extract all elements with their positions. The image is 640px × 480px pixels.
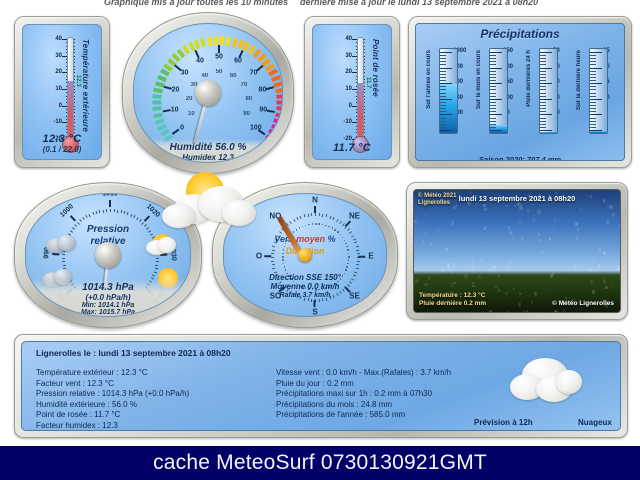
precipitation-minor-tick xyxy=(440,96,446,97)
raindrop xyxy=(532,219,535,222)
compass-minor-tick xyxy=(290,221,293,224)
humidity-tick xyxy=(218,45,220,53)
raindrop xyxy=(534,292,537,296)
precipitation-minor-tick xyxy=(490,121,496,122)
raindrop xyxy=(517,230,518,232)
humidity-tick-label: 40 xyxy=(196,58,204,65)
summary-line: Point de rosée : 11.7 °C xyxy=(36,410,189,421)
pressure-minor-tick xyxy=(110,209,111,212)
raindrop xyxy=(583,251,586,255)
raindrop xyxy=(598,264,600,267)
precipitation-minor-tick xyxy=(540,55,546,56)
precipitation-face: Précipitations Sur l'année en cours10008… xyxy=(415,23,625,161)
wind-hub xyxy=(298,248,312,262)
summary-line: Pluie du jour : 0.2 mm xyxy=(276,379,451,390)
precipitation-minor-tick xyxy=(540,105,546,106)
precipitation-minor-tick xyxy=(590,64,596,65)
raindrop xyxy=(554,218,556,221)
precipitation-minor-tick xyxy=(540,64,546,65)
pressure-minor-tick xyxy=(127,212,129,215)
raindrop xyxy=(509,260,511,263)
raindrop xyxy=(484,208,487,211)
precipitation-minor-tick xyxy=(540,86,546,87)
raindrop xyxy=(450,282,453,287)
forecast-cloud-icon xyxy=(510,354,584,408)
pressure-tick xyxy=(70,215,76,221)
humidity-tick-label: 60 xyxy=(234,58,242,65)
compass-dashed-ring-dot xyxy=(347,263,349,265)
raindrop xyxy=(577,228,579,230)
compass-cardinal-N: N xyxy=(312,196,318,205)
raindrop xyxy=(424,232,425,234)
raindrop xyxy=(550,274,553,278)
raindrop xyxy=(519,293,520,295)
raindrop xyxy=(423,240,425,243)
compass-dashed-ring-dot xyxy=(328,226,330,228)
summary-line: Température extérieur : 12.3 °C xyxy=(36,368,189,379)
precipitation-tick xyxy=(490,52,502,53)
raindrop xyxy=(480,242,481,243)
precipitation-minor-tick xyxy=(540,118,546,119)
precipitation-tick xyxy=(590,68,602,69)
temperature-gauge-title: Température extérieure xyxy=(81,39,90,132)
forecast-word: Nuageux xyxy=(578,418,612,427)
wind-title-row: Vent moyen % xyxy=(224,234,386,244)
precipitation-tick xyxy=(540,130,552,131)
raindrop xyxy=(541,251,544,254)
wind-direction-value: Direction SSE 150° xyxy=(224,273,386,282)
humidity-tick-label: 30 xyxy=(181,70,189,77)
pressure-minor-tick xyxy=(117,209,118,212)
precipitation-minor-tick xyxy=(590,105,596,106)
compass-minor-tick xyxy=(315,213,316,216)
precipitation-minor-tick xyxy=(490,96,496,97)
compass-dashed-ring-dot xyxy=(318,223,320,225)
compass-dashed-ring-dot xyxy=(322,224,324,226)
raindrop xyxy=(476,203,477,205)
summary-line: Précipitations de l'année : 585.0 mm xyxy=(276,410,451,421)
precipitation-minor-tick xyxy=(440,105,446,106)
precipitation-tick xyxy=(490,114,502,115)
humidex-tick-label: 60 xyxy=(230,73,237,79)
scale-tick-label: 0 xyxy=(59,103,62,109)
raindrop xyxy=(565,279,566,281)
precipitation-bar xyxy=(489,48,508,134)
compass-dashed-ring-dot xyxy=(312,223,314,225)
scale-tick-label: -10 xyxy=(343,119,352,125)
weather-dashboard: Graphique mis à jour toutes les 10 minut… xyxy=(0,0,640,480)
scale-tick-label: 40 xyxy=(345,36,352,42)
compass-minor-tick xyxy=(296,217,298,220)
wind-average-value: Moyenne 0.0 km/h xyxy=(224,282,386,291)
raindrop xyxy=(498,289,501,292)
precipitation-bar xyxy=(539,48,558,134)
humidex-tick-label: 50 xyxy=(216,69,223,75)
raindrop xyxy=(414,220,416,223)
temperature-gauge-panel[interactable]: 403020100-10-20 Température extérieure 1… xyxy=(14,16,110,168)
caption-last-update: dernière mise à jour le lundi 13 septemb… xyxy=(300,0,538,8)
raindrop xyxy=(490,266,493,271)
summary-heading: Lignerolles le : lundi 13 septembre 2021… xyxy=(36,348,231,358)
pressure-minor-tick xyxy=(62,261,65,262)
precipitation-minor-tick xyxy=(590,127,596,128)
compass-minor-tick xyxy=(356,264,359,266)
dewpoint-tube xyxy=(357,37,364,141)
wind-title-moyen: moyen xyxy=(296,234,325,244)
pressure-trend: (+0.0 hPa/h) xyxy=(26,293,190,302)
raindrop xyxy=(430,243,432,245)
raindrop xyxy=(527,209,530,213)
pressure-tick xyxy=(109,200,111,207)
weather-symbol-rain-icon xyxy=(44,230,78,256)
compass-dashed-ring-dot xyxy=(284,266,286,268)
precipitation-minor-tick xyxy=(440,80,446,81)
precipitation-tick xyxy=(540,114,552,115)
precipitation-minor-tick xyxy=(590,96,596,97)
humidity-tick-label: 70 xyxy=(250,70,258,77)
dewpoint-needle-label: 11.7 xyxy=(365,77,371,88)
precipitation-tick xyxy=(590,52,602,53)
wind-title-pct: % xyxy=(328,234,336,244)
pressure-minor-tick xyxy=(80,219,83,222)
scale-tick-label: 20 xyxy=(345,69,352,75)
raindrop xyxy=(605,286,608,289)
raindrop xyxy=(554,310,558,313)
raindrop xyxy=(420,237,421,238)
precipitation-column-label: Pluie dernières 24 h xyxy=(526,50,532,107)
raindrop xyxy=(539,239,541,242)
precipitation-minor-tick xyxy=(540,124,546,125)
pressure-minor-tick xyxy=(156,261,159,262)
precipitation-title: Précipitations xyxy=(416,27,624,41)
compass-dashed-ring-dot xyxy=(282,259,284,261)
humidity-gauge-face: 0102030405060708090100102030405060708090… xyxy=(133,23,283,163)
precipitation-column: Sur la dernière heure25201510500.2 mm xyxy=(570,46,620,142)
raindrop xyxy=(445,248,448,251)
compass-minor-tick xyxy=(329,215,331,218)
precipitation-minor-tick xyxy=(440,77,446,78)
precipitation-minor-tick xyxy=(440,74,446,75)
temperature-tube xyxy=(67,37,74,141)
humidex-tick-label: 70 xyxy=(241,82,248,88)
raindrop xyxy=(579,208,582,212)
compass-dashed-ring-dot xyxy=(345,269,347,271)
precipitation-minor-tick xyxy=(590,58,596,59)
raindrop xyxy=(514,205,515,207)
temperature-gauge-face: 403020100-10-20 Température extérieure 1… xyxy=(22,24,102,160)
pressure-minor-tick xyxy=(96,211,98,214)
precipitation-tick xyxy=(590,114,602,115)
precipitation-minor-tick xyxy=(490,74,496,75)
precipitation-tick xyxy=(440,52,452,53)
compass-dashed-ring-dot xyxy=(308,224,310,226)
humidity-tick xyxy=(163,87,171,91)
precipitation-minor-tick xyxy=(490,61,496,62)
compass-cardinal-NE: NE xyxy=(349,212,360,221)
summary-face: Lignerolles le : lundi 13 septembre 2021… xyxy=(21,341,621,431)
humidity-readout: Humidité 56.0 % Humidex 12.3 xyxy=(134,139,282,162)
humidity-tick-label: 90 xyxy=(259,106,267,113)
raindrop xyxy=(427,283,428,284)
raindrop xyxy=(506,265,509,269)
precipitation-minor-tick xyxy=(590,108,596,109)
pressure-gauge-panel[interactable]: 98099010001010102010301040 Pression rela… xyxy=(14,182,202,328)
raindrop xyxy=(523,310,525,312)
precipitation-tick xyxy=(490,130,502,131)
precipitation-minor-tick xyxy=(440,61,446,62)
pressure-minor-tick xyxy=(133,215,135,218)
compass-minor-tick xyxy=(347,229,350,232)
raindrop xyxy=(454,282,457,285)
humidity-value: Humidité 56.0 % xyxy=(134,142,282,153)
pressure-minor-tick xyxy=(62,258,65,259)
raindrop xyxy=(518,302,521,308)
compass-minor-tick xyxy=(272,268,275,270)
webcam-temperature: Température : 12.3 °C xyxy=(419,292,486,300)
forecast-label: Prévision à 12h xyxy=(474,418,533,427)
compass-minor-tick xyxy=(307,214,309,217)
compass-dashed-ring-dot xyxy=(348,256,350,258)
precipitation-minor-tick xyxy=(490,58,496,59)
summary-line: Précipitations maxi sur 1h : 0.2 mm à 07… xyxy=(276,389,451,400)
raindrop xyxy=(603,279,606,284)
raindrop xyxy=(472,285,475,288)
raindrop xyxy=(529,294,531,297)
raindrop xyxy=(574,234,576,236)
humidity-tick-label: 20 xyxy=(172,87,180,94)
scale-tick-label: 20 xyxy=(55,69,62,75)
compass-minor-tick xyxy=(339,221,342,224)
precipitation-minor-tick xyxy=(540,102,546,103)
humidity-tick-label: 10 xyxy=(171,106,179,113)
raindrop xyxy=(508,226,511,230)
humidity-tick xyxy=(239,50,244,58)
pressure-minor-tick xyxy=(99,210,101,213)
precipitation-columns: Sur l'année en cours10008006004002000580… xyxy=(420,46,620,142)
precipitation-minor-tick xyxy=(440,108,446,109)
precipitation-column-label: Sur l'année en cours xyxy=(426,50,432,109)
raindrop xyxy=(531,301,534,304)
dewpoint-gauge-face: 403020100-10-20 Point de rosée 11.7 11.7… xyxy=(312,24,392,160)
raindrop xyxy=(520,203,522,207)
raindrop xyxy=(519,221,521,224)
precipitation-bar-scale xyxy=(590,49,607,133)
raindrop xyxy=(451,220,454,226)
compass-minor-tick xyxy=(333,217,335,220)
precipitation-panel[interactable]: Précipitations Sur l'année en cours10008… xyxy=(408,16,632,168)
precipitation-bar-scale xyxy=(490,49,507,133)
raindrop xyxy=(415,279,417,282)
compass-tick xyxy=(314,206,316,213)
compass-minor-tick xyxy=(303,214,305,217)
pressure-minor-tick xyxy=(130,214,132,217)
precipitation-minor-tick xyxy=(540,96,546,97)
precipitation-tick xyxy=(440,114,452,115)
pressure-minor-tick xyxy=(86,215,88,218)
humidity-tick xyxy=(172,129,179,135)
precipitation-tick xyxy=(440,130,452,131)
precipitation-minor-tick xyxy=(440,93,446,94)
raindrop xyxy=(424,283,426,286)
raindrop xyxy=(589,268,591,271)
scale-tick-label: 10 xyxy=(55,86,62,92)
pressure-minor-tick xyxy=(83,217,86,220)
precipitation-minor-tick xyxy=(440,124,446,125)
precipitation-minor-tick xyxy=(490,77,496,78)
raindrop xyxy=(481,247,482,249)
compass-dashed-ring-dot xyxy=(337,231,339,233)
compass-dashed-ring-dot xyxy=(305,225,307,227)
webcam-datetime: lundi 13 septembre 2021 à 08h20 xyxy=(414,194,620,203)
precipitation-minor-tick xyxy=(440,86,446,87)
raindrop xyxy=(509,231,512,235)
precipitation-minor-tick xyxy=(490,102,496,103)
dewpoint-gauge-panel[interactable]: 403020100-10-20 Point de rosée 11.7 11.7… xyxy=(304,16,400,168)
webcam-rain: Pluie dernière 0.2 mm xyxy=(419,300,486,308)
raindrop xyxy=(603,251,606,255)
scale-tick-label: 10 xyxy=(345,86,352,92)
precipitation-minor-tick xyxy=(490,108,496,109)
raindrop xyxy=(513,288,514,290)
precipitation-tick xyxy=(590,130,602,131)
compass-dashed-ring-dot xyxy=(302,226,304,228)
wind-compass-panel[interactable]: NNEESESSOONO Vent moyen % Direction Dire… xyxy=(212,182,398,328)
precipitation-minor-tick xyxy=(490,64,496,65)
raindrop xyxy=(471,257,474,261)
raindrop xyxy=(550,289,551,290)
compass-dashed-ring-dot xyxy=(325,225,327,227)
compass-minor-tick xyxy=(326,214,328,217)
raindrop xyxy=(505,292,508,295)
precipitation-minor-tick xyxy=(540,111,546,112)
compass-minor-tick xyxy=(319,213,320,216)
compass-minor-tick xyxy=(344,226,347,229)
precipitation-minor-tick xyxy=(490,71,496,72)
compass-minor-tick xyxy=(322,214,324,217)
webcam-readings: Température : 12.3 °C Pluie dernière 0.2… xyxy=(419,292,486,308)
precipitation-minor-tick xyxy=(490,86,496,87)
precipitation-tick xyxy=(440,83,452,84)
precipitation-minor-tick xyxy=(590,80,596,81)
compass-dashed-ring-dot xyxy=(334,229,336,231)
humidity-tick xyxy=(267,110,275,113)
humidex-tick-label: 90 xyxy=(243,111,250,117)
precipitation-minor-tick xyxy=(540,108,546,109)
precipitation-minor-tick xyxy=(490,93,496,94)
raindrop xyxy=(612,284,614,287)
wind-gust-value: Rafale 3.7 km/h xyxy=(224,291,386,300)
precipitation-minor-tick xyxy=(590,121,596,122)
summary-right-column: Vitesse vent : 0.0 km/h - Max.(Rafales) … xyxy=(276,368,451,421)
precipitation-column: Sur le mois en cours25020015010050024.8 … xyxy=(470,46,520,142)
raindrop xyxy=(450,271,453,274)
compass-dashed-ring-dot xyxy=(299,227,301,229)
precipitation-minor-tick xyxy=(440,111,446,112)
wind-compass-face: NNEESESSOONO Vent moyen % Direction Dire… xyxy=(223,193,387,317)
pressure-tick-label: 1010 xyxy=(102,193,118,198)
precipitation-minor-tick xyxy=(590,118,596,119)
precipitation-minor-tick xyxy=(540,61,546,62)
compass-dashed-ring-dot xyxy=(282,256,284,258)
compass-cardinal-S: S xyxy=(312,308,317,317)
precipitation-minor-tick xyxy=(490,118,496,119)
precipitation-minor-tick xyxy=(440,102,446,103)
pressure-max: Max: 1015.7 hPa xyxy=(26,309,190,316)
raindrop xyxy=(619,270,621,276)
precipitation-minor-tick xyxy=(540,74,546,75)
precipitation-minor-tick xyxy=(540,93,546,94)
humidity-tick xyxy=(194,50,199,58)
summary-line: Facteur vent : 12.3 °C xyxy=(36,379,189,390)
raindrop xyxy=(537,209,541,215)
compass-minor-tick xyxy=(271,257,274,258)
precipitation-column-label: Sur le mois en cours xyxy=(476,50,482,109)
precipitation-minor-tick xyxy=(540,77,546,78)
precipitation-minor-tick xyxy=(440,118,446,119)
precipitation-minor-tick xyxy=(490,89,496,90)
pressure-minor-tick xyxy=(103,209,104,212)
pressure-tick xyxy=(144,215,150,221)
webcam-panel[interactable]: © Météo 2021Lignerolles lundi 13 septemb… xyxy=(406,182,628,320)
raindrop xyxy=(576,236,579,240)
raindrop xyxy=(614,249,616,252)
raindrop xyxy=(590,280,593,285)
precipitation-minor-tick xyxy=(590,111,596,112)
raindrop xyxy=(471,265,474,269)
precipitation-minor-tick xyxy=(590,55,596,56)
precipitation-column: Pluie dernières 24 h504030201000.2 mm xyxy=(520,46,570,142)
precipitation-minor-tick xyxy=(540,127,546,128)
precipitation-minor-tick xyxy=(490,80,496,81)
raindrop xyxy=(606,220,609,224)
summary-panel[interactable]: Lignerolles le : lundi 13 septembre 2021… xyxy=(14,334,628,438)
raindrop xyxy=(498,274,500,277)
raindrop xyxy=(619,267,621,270)
scale-tick-label: 0 xyxy=(349,103,352,109)
humidex-value: Humidex 12.3 xyxy=(134,153,282,162)
dewpoint-value: 11.7 °C xyxy=(313,142,391,154)
summary-line: Humidité extérieure : 56.0 % xyxy=(36,400,189,411)
wind-readout: Direction SSE 150° Moyenne 0.0 km/h Rafa… xyxy=(224,273,386,300)
raindrop xyxy=(437,229,440,232)
compass-dashed-ring-dot xyxy=(285,269,287,271)
pressure-minor-tick xyxy=(124,211,126,214)
summary-line: Pression relative : 1014.3 hPa (+0.0 hPa… xyxy=(36,389,189,400)
status-bar: cache MeteoSurf 0730130921GMT xyxy=(0,446,640,480)
compass-dashed-ring-dot xyxy=(332,227,334,229)
webcam-credit: © Météo Lignerolles xyxy=(552,300,614,307)
precipitation-column: Sur l'année en cours10008006004002000580… xyxy=(420,46,470,142)
pressure-minor-tick xyxy=(136,217,139,220)
precipitation-minor-tick xyxy=(490,127,496,128)
pressure-gauge-face: 98099010001010102010301040 Pression rela… xyxy=(25,193,191,317)
compass-minor-tick xyxy=(355,268,358,270)
raindrop xyxy=(493,265,496,269)
precipitation-minor-tick xyxy=(440,55,446,56)
precipitation-minor-tick xyxy=(540,58,546,59)
precipitation-minor-tick xyxy=(540,89,546,90)
precipitation-bar-scale xyxy=(540,49,557,133)
dewpoint-mercury xyxy=(358,83,363,140)
precipitation-minor-tick xyxy=(590,93,596,94)
raindrop xyxy=(538,267,540,269)
humidity-tick-label: 100 xyxy=(250,124,262,131)
compass-minor-tick xyxy=(311,213,312,216)
precipitation-minor-tick xyxy=(590,124,596,125)
precipitation-minor-tick xyxy=(590,86,596,87)
humidity-gauge-panel[interactable]: 0102030405060708090100102030405060708090… xyxy=(122,12,294,174)
raindrop xyxy=(495,286,497,288)
